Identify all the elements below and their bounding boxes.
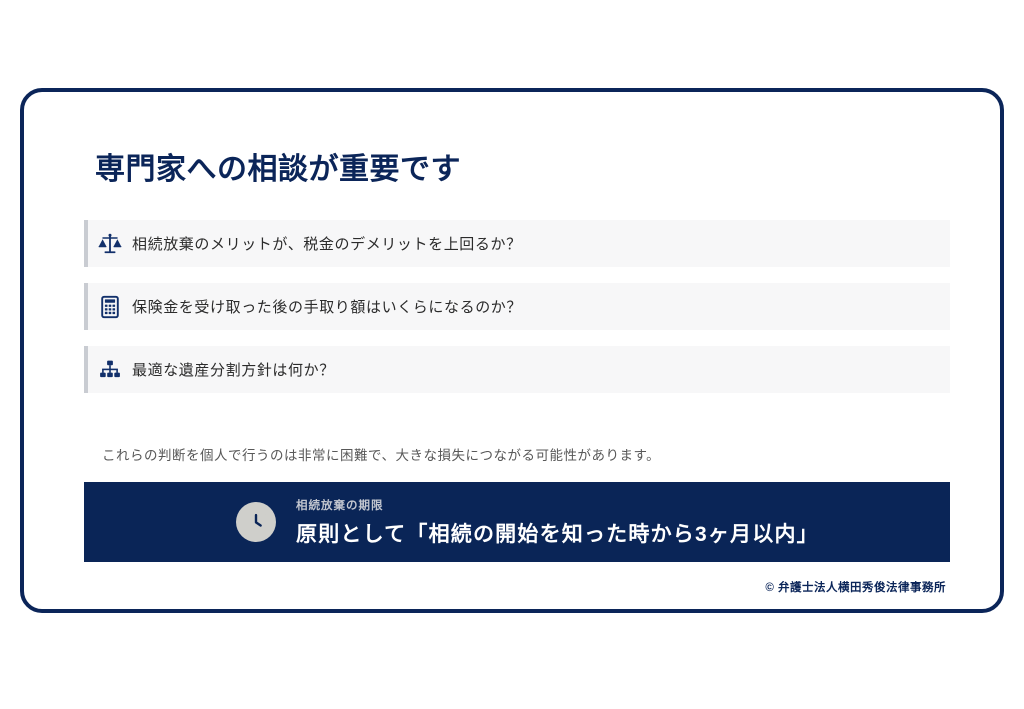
list-item-label: 保険金を受け取った後の手取り額はいくらになるのか？ — [132, 296, 522, 317]
deadline-banner: 相続放棄の期限 原則として「相続の開始を知った時から3ヶ月以内」 — [84, 482, 950, 562]
list-item: 最適な遺産分割方針は何か？ — [84, 346, 950, 393]
list-item: 相続放棄のメリットが、税金のデメリットを上回るか？ — [84, 220, 950, 267]
list-item-label: 最適な遺産分割方針は何か？ — [132, 359, 335, 380]
sitemap-icon — [88, 358, 132, 382]
slide-root: 専門家への相談が重要です 相続放棄のメリットが、税金のデメリットを上 — [0, 0, 1024, 709]
question-list: 相続放棄のメリットが、税金のデメリットを上回るか？ — [84, 220, 950, 409]
list-item-label: 相続放棄のメリットが、税金のデメリットを上回るか？ — [132, 233, 522, 254]
balance-scale-icon — [88, 232, 132, 256]
caution-note: これらの判断を個人で行うのは非常に困難で、大きな損失につながる可能性があります。 — [102, 444, 660, 464]
deadline-texts: 相続放棄の期限 原則として「相続の開始を知った時から3ヶ月以内」 — [296, 497, 819, 548]
clock-icon — [236, 502, 276, 542]
page-title: 専門家への相談が重要です — [95, 144, 461, 188]
content-card: 専門家への相談が重要です 相続放棄のメリットが、税金のデメリットを上 — [20, 88, 1004, 613]
calculator-icon — [88, 295, 132, 319]
deadline-value: 原則として「相続の開始を知った時から3ヶ月以内」 — [296, 518, 819, 548]
deadline-label: 相続放棄の期限 — [296, 497, 819, 513]
copyright-text: © 弁護士法人横田秀俊法律事務所 — [765, 579, 946, 595]
list-item: 保険金を受け取った後の手取り額はいくらになるのか？ — [84, 283, 950, 330]
